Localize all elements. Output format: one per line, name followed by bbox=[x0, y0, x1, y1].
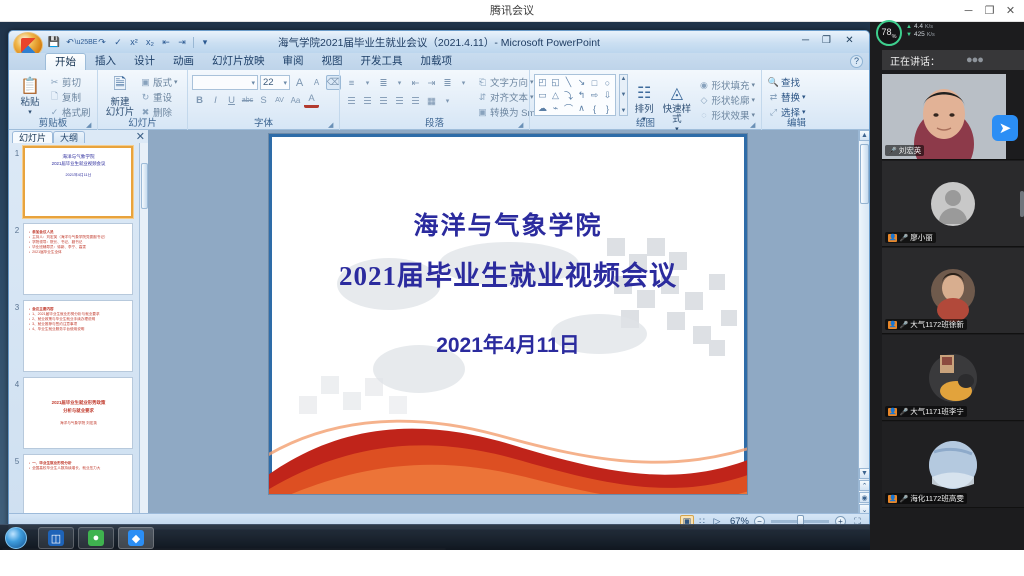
slide-thumbnail-2[interactable]: 参加会议人员 主持人：刘宏英（海洋与气象学院党委副书记） 学院领导：院长、书记、… bbox=[23, 223, 133, 295]
shape-curve-icon[interactable]: ⌒ bbox=[562, 102, 575, 115]
network-quality-badge[interactable]: 78% bbox=[876, 20, 902, 46]
pane-tab-slides[interactable]: 幻灯片 bbox=[12, 131, 53, 143]
shape-angle-icon[interactable]: ∧ bbox=[575, 102, 588, 115]
meeting-maximize-button[interactable]: ❐ bbox=[979, 0, 1000, 22]
mic-icon: 🎤 bbox=[899, 495, 908, 503]
shapes-gallery[interactable]: ◰ ◱ ╲ ↘ □ ○ ▭ △ ⤵ ↰ ⇨ ⇩ ☁ bbox=[534, 74, 616, 116]
slide-date-text[interactable]: 2021年4月11日 bbox=[269, 329, 747, 359]
find-label: 查找 bbox=[781, 75, 800, 89]
current-slide[interactable]: 海洋与气象学院 2021届毕业生就业视频会议 2021年4月11日 bbox=[268, 133, 748, 495]
text-direction-icon: ⎗ bbox=[477, 77, 488, 88]
ribbon-group-editing: 🔍 查找 ⇄ 替换 ▾ ⤢ 选择 ▾ bbox=[761, 70, 831, 130]
mic-icon: 🎤 bbox=[899, 234, 908, 242]
underline-button[interactable]: U bbox=[224, 93, 239, 108]
arrange-label: 排列 bbox=[635, 105, 654, 115]
slide-edit-area[interactable]: 海洋与气象学院 2021届毕业生就业视频会议 2021年4月11日 ▲ bbox=[150, 130, 869, 515]
previous-slide-button[interactable]: ⌃ bbox=[859, 480, 869, 491]
numbering-button[interactable]: ≣ bbox=[376, 76, 391, 91]
thumb-line: 2021届毕业生就业视频会议 bbox=[30, 161, 127, 166]
scroll-down-button[interactable]: ▼ bbox=[859, 468, 869, 479]
reset-button[interactable]: ↻ 重设 bbox=[138, 90, 180, 104]
participant-tile-5[interactable]: 👤 🎤 海化1172班高雯 bbox=[882, 422, 1024, 508]
slides-pane: 幻灯片 大纲 ✕ 1 海洋与气象学院 2021届毕业生 bbox=[9, 130, 149, 515]
italic-button[interactable]: I bbox=[208, 93, 223, 108]
slide-thumbnail-3[interactable]: 会议主要内容 1、2021届毕业生就业形势分析与就业要求 2、就业政策与毕业生就… bbox=[23, 300, 133, 372]
shape-oval-icon[interactable]: ○ bbox=[601, 76, 614, 89]
clipboard-dialog-launcher[interactable]: ◢ bbox=[86, 121, 94, 129]
shape-outline-button[interactable]: ◇ 形状轮廓 ▾ bbox=[696, 93, 757, 107]
paragraph-group-label: 段落 bbox=[340, 115, 529, 129]
shape-outline-dropdown-icon[interactable]: ▾ bbox=[751, 96, 755, 104]
thumbnail-number: 4 bbox=[11, 377, 23, 389]
cut-label: 剪切 bbox=[62, 75, 81, 89]
ribbon-group-font: ▾ 22 ▾ A A ⌫ B I bbox=[187, 70, 339, 130]
start-button-icon[interactable] bbox=[5, 527, 27, 549]
tencent-meeting-icon: ◆ bbox=[128, 530, 144, 546]
grow-font-button[interactable]: A bbox=[292, 75, 307, 90]
font-name-input[interactable]: ▾ bbox=[192, 75, 258, 90]
decrease-list-indent-button[interactable]: ⇤ bbox=[408, 76, 423, 91]
explorer-icon: ◫ bbox=[48, 530, 64, 546]
replace-button[interactable]: ⇄ 替换 ▾ bbox=[766, 90, 808, 104]
copy-label: 复制 bbox=[62, 90, 81, 104]
shape-rbrace-icon[interactable]: } bbox=[601, 102, 614, 115]
slide-thumbnail-1[interactable]: 海洋与气象学院 2021届毕业生就业视频会议 2021年4月11日 bbox=[23, 146, 133, 218]
copy-button[interactable]: 🗋 复制 bbox=[47, 90, 93, 104]
list-item[interactable]: 3 会议主要内容 1、2021届毕业生就业形势分析与就业要求 2、就业政策与毕业… bbox=[11, 300, 137, 372]
drawing-group-label: 绘图 bbox=[530, 115, 761, 129]
align-center-button[interactable]: ☰ bbox=[360, 94, 375, 109]
thumb-line: 分析与就业要求 bbox=[29, 408, 128, 413]
replace-icon: ⇄ bbox=[768, 92, 779, 103]
participant-name: 刘宏英 bbox=[899, 145, 922, 156]
meeting-title: 腾讯会议 bbox=[0, 0, 1024, 22]
layout-button[interactable]: ▣ 版式 ▾ bbox=[138, 75, 180, 89]
shape-fill-label: 形状填充 bbox=[711, 78, 749, 92]
clipboard-group-label: 剪贴板 bbox=[9, 115, 97, 129]
ribbon-group-paragraph: ≡ ▾ ≣ ▾ ⇤ ⇥ ≣ ▾ ☰ ☰ bbox=[339, 70, 529, 130]
replace-dropdown-icon[interactable]: ▾ bbox=[802, 93, 806, 101]
slide-thumbnail-5[interactable]: 一、毕业生就业形势分析 全国高校毕业生人数持续增长，就业压力大 bbox=[23, 454, 133, 515]
align-left-button[interactable]: ☰ bbox=[344, 94, 359, 109]
shape-fill-button[interactable]: ◉ 形状填充 ▾ bbox=[696, 78, 757, 92]
participant-name: 海化1172班高雯 bbox=[910, 493, 964, 504]
shapes-scroll-down-icon[interactable]: ▼ bbox=[621, 92, 627, 98]
columns-dropdown-icon[interactable]: ▾ bbox=[440, 94, 455, 109]
avatar-head bbox=[945, 190, 961, 206]
thumb-line: 2021届毕业生就业形势政策 bbox=[29, 400, 128, 405]
columns-button[interactable]: ▦ bbox=[424, 94, 439, 109]
reset-label: 重设 bbox=[153, 90, 172, 104]
shape-scribble-icon[interactable]: ⌁ bbox=[549, 102, 562, 115]
tab-insert[interactable]: 插入 bbox=[86, 53, 125, 70]
shape-rect-icon[interactable]: □ bbox=[588, 76, 601, 89]
mic-icon: 🎤 bbox=[899, 408, 908, 416]
wave-graphic bbox=[23, 262, 133, 295]
ribbon-group-slides: 🗎 新建 幻灯片 ▣ 版式 ▾ ↻ 重设 bbox=[97, 70, 187, 130]
change-case-button[interactable]: Aa bbox=[288, 93, 303, 108]
list-item[interactable]: 1 海洋与气象学院 2021届毕业生就业视频会议 2021年4月11日 bbox=[11, 146, 137, 218]
tab-developer[interactable]: 开发工具 bbox=[352, 53, 412, 70]
tab-view[interactable]: 视图 bbox=[313, 53, 352, 70]
shapes-gallery-scroll[interactable]: ▲ ▼ ▼ bbox=[619, 74, 628, 116]
participant-name: 廖小丽 bbox=[910, 232, 933, 243]
host-badge: 👤 bbox=[888, 408, 897, 416]
host-badge: 👤 bbox=[888, 321, 897, 329]
replace-label: 替换 bbox=[781, 90, 800, 104]
download-speed-row: ▼ 425 K/s bbox=[906, 31, 935, 38]
list-item[interactable]: 4 2021届毕业生就业形势政策 分析与就业要求 海洋与气象学院 刘宏英 bbox=[11, 377, 137, 449]
layout-label: 版式 bbox=[153, 75, 172, 89]
quick-styles-icon: ◬ bbox=[665, 81, 689, 105]
tab-addins[interactable]: 加载项 bbox=[412, 53, 462, 70]
participant-nametag-4: 👤 🎤 大气1171班李宁 bbox=[885, 406, 967, 417]
font-color-button[interactable]: A bbox=[304, 93, 319, 108]
download-arrow-icon: ▼ bbox=[906, 32, 912, 38]
slide-title-line-1[interactable]: 海洋与气象学院 bbox=[269, 206, 747, 242]
shape-fill-dropdown-icon[interactable]: ▾ bbox=[751, 81, 755, 89]
rail-scrollbar-thumb[interactable] bbox=[1020, 191, 1024, 217]
speaking-label: 正在讲话： bbox=[890, 53, 940, 68]
shape-outline-label: 形状轮廓 bbox=[711, 93, 749, 107]
shapes-more-icon[interactable]: ▼ bbox=[621, 108, 627, 114]
participant-nametag-5: 👤 🎤 海化1172班高雯 bbox=[885, 493, 967, 504]
tab-review[interactable]: 审阅 bbox=[274, 53, 313, 70]
new-slide-button[interactable]: 🗎 新建 幻灯片 bbox=[102, 72, 138, 118]
participant-nametag-3: 👤 🎤 大气1172班徐新 bbox=[885, 319, 967, 330]
host-badge: 👤 bbox=[888, 495, 897, 503]
thumb-line: 全国高校毕业生人数持续增长，就业压力大 bbox=[29, 466, 128, 471]
network-speeds: ▲ 4.4 K/s ▼ 425 K/s bbox=[906, 23, 935, 38]
powerpoint-title: 海气学院2021届毕业生就业会议（2021.4.11）- Microsoft P… bbox=[9, 35, 869, 50]
default-avatar bbox=[931, 182, 975, 226]
thumb-line: 海洋与气象学院 bbox=[30, 154, 127, 159]
pane-tab-strip: 幻灯片 大纲 ✕ bbox=[9, 130, 148, 143]
powerpoint-close-button[interactable]: ✕ bbox=[840, 33, 859, 48]
strikethrough-button[interactable]: abc bbox=[240, 93, 255, 108]
font-name-dropdown-icon[interactable]: ▾ bbox=[251, 79, 255, 87]
font-size-dropdown-icon[interactable]: ▾ bbox=[283, 79, 287, 87]
powerpoint-titlebar: 💾 ↶ \u25BE ↷ ✓ x² x₂ ⇤ ⇥ ▾ 海气学院2021届毕业生就… bbox=[9, 31, 869, 53]
bullets-dropdown-icon[interactable]: ▾ bbox=[360, 76, 375, 91]
thumb-line: 海洋与气象学院 刘宏英 bbox=[29, 421, 128, 426]
thumbnail-number: 1 bbox=[11, 146, 23, 158]
upload-arrow-icon: ▲ bbox=[906, 24, 912, 30]
shrink-font-button[interactable]: A bbox=[309, 75, 324, 90]
participant-tile-2[interactable]: 👤 🎤 廖小丽 bbox=[882, 161, 1024, 247]
thumb-line: 4、毕业生就业服务平台使用说明 bbox=[29, 327, 128, 332]
ribbon-group-drawing: ◰ ◱ ╲ ↘ □ ○ ▭ △ ⤵ ↰ ⇨ ⇩ ☁ bbox=[529, 70, 761, 130]
meeting-close-button[interactable]: ✕ bbox=[1000, 0, 1021, 22]
host-badge: 👤 bbox=[888, 234, 897, 242]
ribbon-group-clipboard: 📋 粘贴 ▾ ✂ 剪切 🗋 复制 bbox=[9, 70, 97, 130]
thumb-line: 2021年4月11日 bbox=[30, 173, 127, 178]
network-percent-unit: % bbox=[892, 33, 897, 39]
tab-design[interactable]: 设计 bbox=[125, 53, 164, 70]
audio-wave-icon: ●●● bbox=[966, 54, 983, 66]
shape-roundrect-icon[interactable]: ▭ bbox=[536, 89, 549, 102]
powerpoint-workspace: 幻灯片 大纲 ✕ 1 海洋与气象学院 2021届毕业生 bbox=[9, 130, 869, 515]
pane-close-icon[interactable]: ✕ bbox=[136, 130, 145, 143]
meeting-titlebar: 腾讯会议 ─ ❐ ✕ bbox=[0, 0, 1024, 22]
text-shadow-button[interactable]: S bbox=[256, 93, 271, 108]
align-text-icon: ⇵ bbox=[477, 92, 488, 103]
wechat-icon: ● bbox=[88, 530, 104, 546]
shape-arrow-icon[interactable]: ↘ bbox=[575, 76, 588, 89]
tencent-logo-icon: ➤ bbox=[992, 115, 1018, 141]
participant-tile-1[interactable]: ➤ 🎤 刘宏英 bbox=[882, 74, 1024, 160]
align-text-label: 对齐文本 bbox=[490, 90, 528, 104]
meeting-minimize-button[interactable]: ─ bbox=[958, 0, 979, 22]
scrollbar-thumb[interactable] bbox=[141, 163, 148, 209]
character-spacing-button[interactable]: AV bbox=[272, 93, 287, 108]
download-speed-unit: K/s bbox=[927, 32, 935, 38]
taskbar-item-explorer[interactable]: ◫ bbox=[38, 527, 74, 549]
shape-line-icon[interactable]: ╲ bbox=[562, 76, 575, 89]
ribbon: 📋 粘贴 ▾ ✂ 剪切 🗋 复制 bbox=[9, 70, 869, 130]
font-size-input[interactable]: 22 ▾ bbox=[260, 75, 290, 90]
upload-speed-value: 4.4 bbox=[914, 23, 923, 30]
reset-pointer-button[interactable]: ◉ bbox=[859, 492, 869, 503]
network-percent: 78% bbox=[882, 27, 897, 40]
align-right-button[interactable]: ☰ bbox=[376, 94, 391, 109]
layout-icon: ▣ bbox=[140, 77, 151, 88]
paste-icon: 📋 bbox=[18, 74, 42, 98]
taskbar-item-tencent-meeting[interactable]: ◆ bbox=[118, 527, 154, 549]
slide-thumbnail-4[interactable]: 2021届毕业生就业形势政策 分析与就业要求 海洋与气象学院 刘宏英 bbox=[23, 377, 133, 449]
cut-button[interactable]: ✂ 剪切 bbox=[47, 75, 93, 89]
slides-group-label: 幻灯片 bbox=[98, 115, 187, 129]
font-dialog-launcher[interactable]: ◢ bbox=[328, 121, 336, 129]
slides-pane-scrollbar[interactable] bbox=[139, 143, 148, 515]
powerpoint-restore-button[interactable]: ❐ bbox=[817, 33, 836, 48]
layout-dropdown-icon[interactable]: ▾ bbox=[174, 78, 178, 86]
taskbar-item-wechat[interactable]: ● bbox=[78, 527, 114, 549]
mic-icon: 🎤 bbox=[888, 147, 897, 155]
ribbon-tab-strip: 开始 插入 设计 动画 幻灯片放映 审阅 视图 开发工具 加载项 ? bbox=[9, 53, 869, 70]
shape-triangle-icon[interactable]: △ bbox=[549, 89, 562, 102]
line-spacing-dropdown-icon[interactable]: ▾ bbox=[456, 76, 471, 91]
scissors-icon: ✂ bbox=[49, 77, 60, 88]
drawing-dialog-launcher[interactable]: ◢ bbox=[750, 121, 758, 129]
copy-icon: 🗋 bbox=[49, 92, 60, 103]
shape-elbow2-icon[interactable]: ↰ bbox=[575, 89, 588, 102]
text-direction-label: 文字方向 bbox=[490, 75, 528, 89]
font-size-value: 22 bbox=[263, 77, 283, 88]
shape-lbrace-icon[interactable]: { bbox=[588, 102, 601, 115]
powerpoint-window: 💾 ↶ \u25BE ↷ ✓ x² x₂ ⇤ ⇥ ▾ 海气学院2021届毕业生就… bbox=[8, 30, 870, 530]
pane-tab-outline[interactable]: 大纲 bbox=[53, 131, 85, 143]
slide-title-line-2[interactable]: 2021届毕业生就业视频会议 bbox=[269, 254, 747, 293]
tab-home[interactable]: 开始 bbox=[45, 53, 86, 70]
shared-screen-area: 💾 ↶ \u25BE ↷ ✓ x² x₂ ⇤ ⇥ ▾ 海气学院2021届毕业生就… bbox=[0, 22, 870, 550]
line-spacing-button[interactable]: ≣ bbox=[440, 76, 455, 91]
scrollbar-thumb[interactable] bbox=[860, 144, 869, 204]
participant-name: 大气1171班李宁 bbox=[910, 406, 964, 417]
shape-outline-icon: ◇ bbox=[698, 95, 709, 106]
mic-icon: 🎤 bbox=[899, 321, 908, 329]
zoom-slider[interactable] bbox=[771, 520, 829, 523]
upload-speed-unit: K/s bbox=[925, 24, 933, 30]
distribute-button[interactable]: ☰ bbox=[408, 94, 423, 109]
shape-textbox-icon[interactable]: ◰ bbox=[536, 76, 549, 89]
shape-arrow-down-icon[interactable]: ⇩ bbox=[601, 89, 614, 102]
tencent-meeting-window: 腾讯会议 ─ ❐ ✕ 💾 ↶ \u25BE ↷ ✓ x² x₂ ⇤ ⇥ bbox=[0, 0, 1024, 576]
download-speed-value: 425 bbox=[914, 31, 925, 38]
find-icon: 🔍 bbox=[768, 77, 779, 88]
help-icon[interactable]: ? bbox=[850, 55, 863, 68]
reset-icon: ↻ bbox=[140, 92, 151, 103]
wave-graphic bbox=[23, 184, 133, 218]
slide-vertical-scrollbar[interactable]: ▲ ▼ ⌃ ◉ ⌄ bbox=[858, 130, 869, 515]
shapes-scroll-up-icon[interactable]: ▲ bbox=[621, 76, 627, 82]
network-percent-value: 78 bbox=[882, 27, 892, 37]
tab-animation[interactable]: 动画 bbox=[164, 53, 203, 70]
shape-fill-icon: ◉ bbox=[698, 80, 709, 91]
participant-tile-4[interactable]: 👤 🎤 大气1171班李宁 bbox=[882, 335, 1024, 421]
upload-speed-row: ▲ 4.4 K/s bbox=[906, 23, 935, 30]
wave-graphic bbox=[23, 339, 133, 372]
thumbnail-number: 2 bbox=[11, 223, 23, 235]
shape-elbow-icon[interactable]: ⤵ bbox=[562, 89, 575, 102]
new-slide-icon: 🗎 bbox=[108, 74, 132, 98]
tab-slideshow[interactable]: 幻灯片放映 bbox=[203, 53, 274, 70]
increase-list-indent-button[interactable]: ⇥ bbox=[424, 76, 439, 91]
editing-group-label: 编辑 bbox=[762, 115, 831, 129]
paragraph-dialog-launcher[interactable]: ◢ bbox=[518, 121, 526, 129]
paste-button[interactable]: 📋 粘贴 ▾ bbox=[13, 72, 47, 118]
list-item[interactable]: 5 一、毕业生就业形势分析 全国高校毕业生人数持续增长，就业压力大 bbox=[11, 454, 137, 515]
participant-nametag-2: 👤 🎤 廖小丽 bbox=[885, 232, 936, 243]
thumbnail-number: 5 bbox=[11, 454, 23, 466]
paste-label: 粘贴 bbox=[20, 98, 39, 108]
participant-tile-3[interactable]: 👤 🎤 大气1172班徐新 bbox=[882, 248, 1024, 334]
list-item[interactable]: 2 参加会议人员 主持人：刘宏英（海洋与气象学院党委副书记） 学院领导：院长、书… bbox=[11, 223, 137, 295]
font-group-label: 字体 bbox=[188, 115, 339, 129]
justify-button[interactable]: ☰ bbox=[392, 94, 407, 109]
participant-rail: 78% ▲ 4.4 K/s ▼ 425 K/s 正在讲话： ●●● bbox=[870, 22, 1024, 550]
shape-arrow-right-icon[interactable]: ⇨ bbox=[588, 89, 601, 102]
participant-name: 大气1172班徐新 bbox=[910, 319, 964, 330]
windows-taskbar: ◫ ● ◆ 🔊 10:04 2021/4/11 ▢ bbox=[0, 524, 870, 550]
scroll-up-button[interactable]: ▲ bbox=[859, 130, 869, 141]
thumbnail-number: 3 bbox=[11, 300, 23, 312]
arrange-icon: ☷ bbox=[632, 81, 656, 105]
red-ribbon-graphic bbox=[268, 389, 748, 495]
participant-nametag-1: 🎤 刘宏英 bbox=[885, 145, 924, 156]
numbering-dropdown-icon[interactable]: ▾ bbox=[392, 76, 407, 91]
bullets-button[interactable]: ≡ bbox=[344, 76, 359, 91]
active-speaker-banner: 正在讲话： ●●● bbox=[882, 50, 1024, 70]
powerpoint-minimize-button[interactable]: ─ bbox=[796, 33, 815, 48]
avatar-body bbox=[939, 208, 967, 224]
thumb-line: 2021届毕业生全体 bbox=[29, 250, 128, 255]
shape-frame-icon[interactable]: ◱ bbox=[549, 76, 562, 89]
find-button[interactable]: 🔍 查找 bbox=[766, 75, 808, 89]
bold-button[interactable]: B bbox=[192, 93, 207, 108]
shape-cloud-icon[interactable]: ☁ bbox=[536, 102, 549, 115]
slide-thumbnail-list[interactable]: 1 海洋与气象学院 2021届毕业生就业视频会议 2021年4月11日 bbox=[9, 143, 139, 515]
